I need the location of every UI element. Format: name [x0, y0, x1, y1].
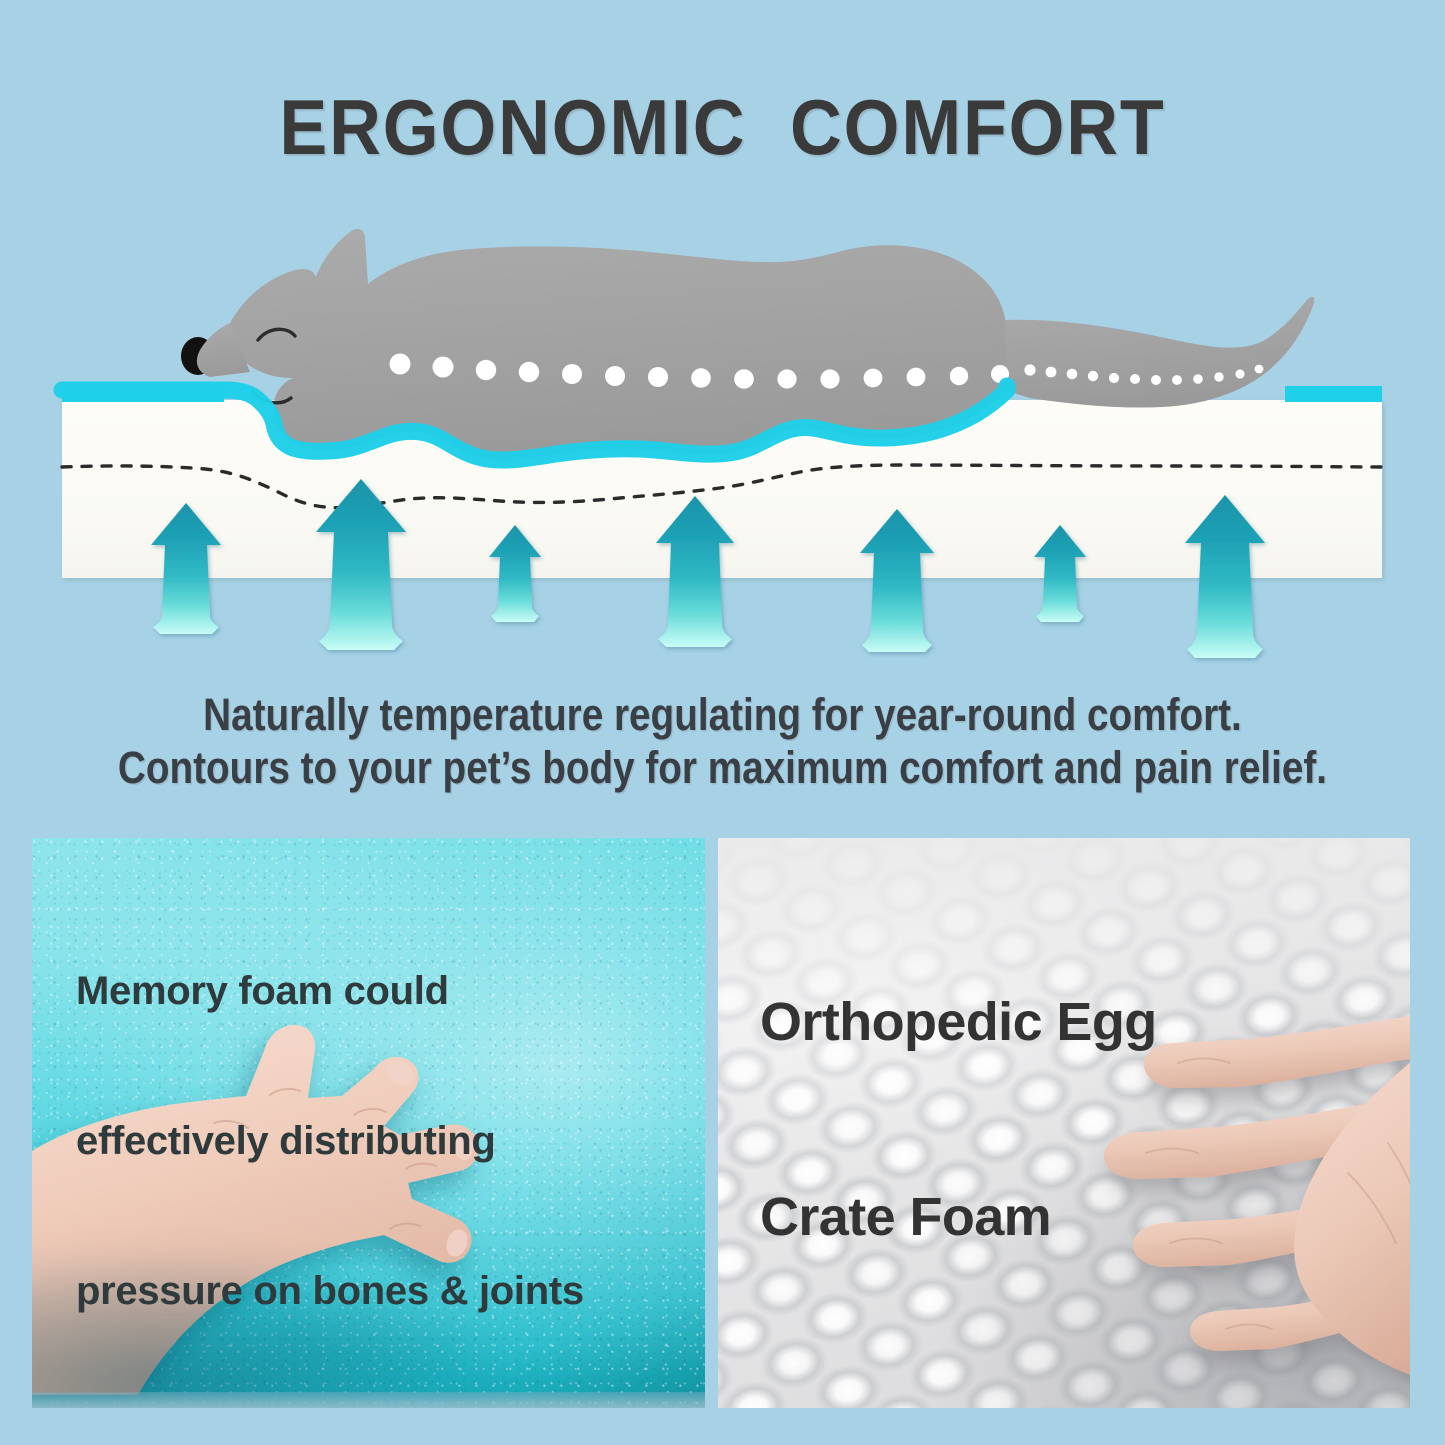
caption-line: Orthopedic Egg	[760, 990, 1157, 1055]
egg-crate-foam-caption: Orthopedic Egg Crate Foam	[760, 860, 1157, 1380]
page-title: ERGONOMIC COMFORT	[58, 82, 1387, 173]
pressure-relief-diagram	[0, 200, 1445, 670]
cooling-gel-top-layer-right	[1285, 386, 1382, 402]
egg-crate-foam-panel: Orthopedic Egg Crate Foam	[718, 838, 1410, 1408]
caption-line: Crate Foam	[760, 1185, 1157, 1250]
caption-line: Memory foam could	[76, 966, 584, 1016]
subtitle-block: Naturally temperature regulating for yea…	[101, 688, 1344, 794]
caption-line: effectively distributing	[76, 1116, 584, 1166]
infographic-page: ERGONOMIC COMFORT	[0, 0, 1445, 1445]
subtitle-line-2: Contours to your pet’s body for maximum …	[101, 741, 1344, 794]
dog-tail	[1003, 297, 1314, 408]
memory-foam-panel: Memory foam could effectively distributi…	[32, 838, 705, 1408]
dog-body	[228, 229, 1007, 460]
caption-line: pressure on bones & joints	[76, 1266, 584, 1316]
memory-foam-caption: Memory foam could effectively distributi…	[76, 866, 584, 1408]
subtitle-line-1: Naturally temperature regulating for yea…	[101, 688, 1344, 741]
